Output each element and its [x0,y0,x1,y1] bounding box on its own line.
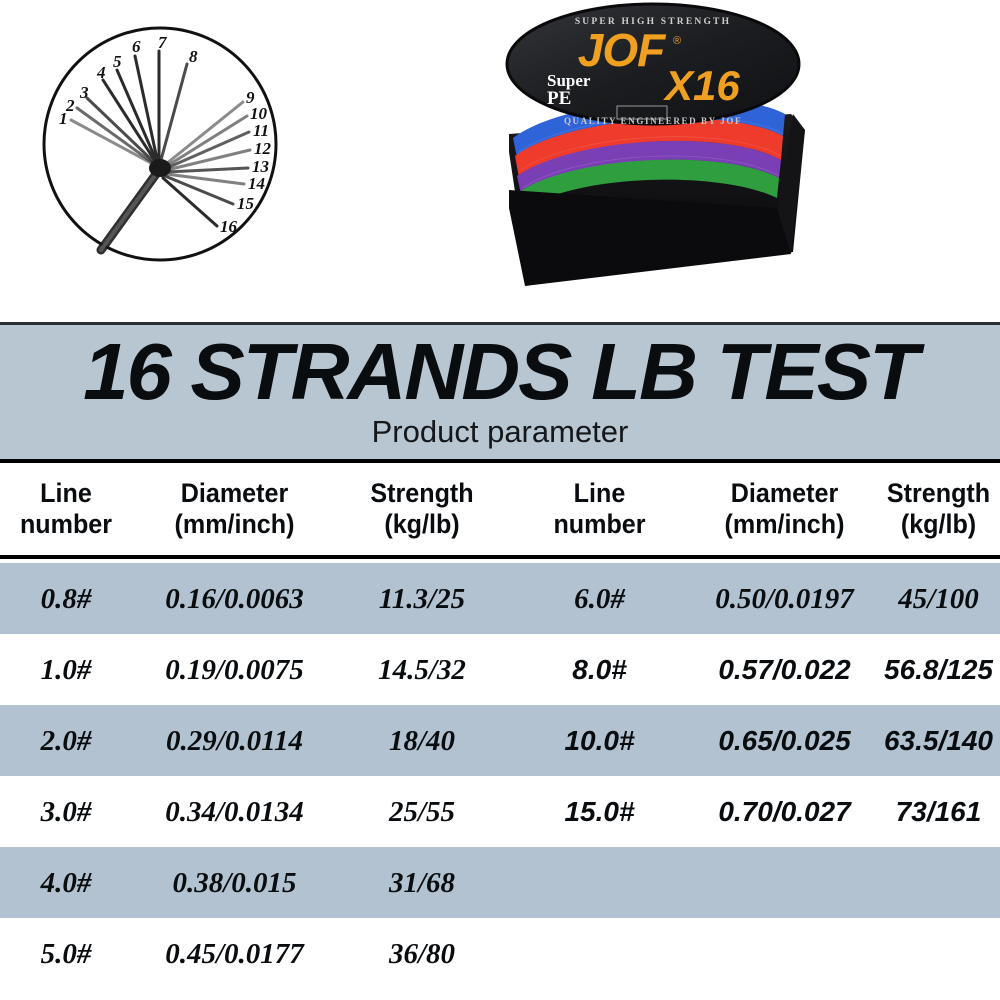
column-header-diameter-left: Diameter (mm/inch) [139,478,330,540]
column-header-line: Line [5,478,128,509]
cell-strength-2: 56.8/125 [877,654,1000,686]
cell-strength: 31/68 [337,867,507,899]
cell-strength-2: 45/100 [877,583,1000,615]
table-row: 1.0#0.19/0.007514.5/328.0#0.57/0.02256.8… [0,634,1000,705]
column-header-strength-left: Strength (kg/lb) [343,478,501,540]
strand-label-2: 2 [65,96,75,115]
cell-line-number: 3.0# [0,796,132,828]
strand-label-11: 11 [253,121,269,140]
table-row: 2.0#0.29/0.011418/4010.0#0.65/0.02563.5/… [0,705,1000,776]
cell-strength: 14.5/32 [337,654,507,686]
column-header-strength-2: Strength [881,478,995,509]
cell-diameter: 0.16/0.0063 [132,583,337,615]
strand-label-4: 4 [96,63,106,82]
spool-pe-text: PE [547,88,571,109]
cell-diameter-2: 0.50/0.0197 [692,583,877,615]
cell-line-number: 4.0# [0,867,132,899]
product-photo-area: 1 2 3 4 5 6 7 8 9 10 11 12 13 14 15 16 [0,0,1000,324]
column-header-diameter-right: Diameter (mm/inch) [698,478,870,540]
cell-strength-2: 73/161 [877,796,1000,828]
cell-line-number: 2.0# [0,725,132,757]
spec-table-header: Line number Diameter (mm/inch) Strength … [0,459,1000,559]
column-header-number-2: number [513,509,685,540]
cell-strength: 18/40 [337,725,507,757]
strand-label-15: 15 [237,194,255,213]
column-header-strength-units-2: (kg/lb) [881,509,995,540]
table-row: 0.8#0.16/0.006311.3/256.0#0.50/0.019745/… [0,563,1000,634]
cell-line-number-2: 8.0# [507,654,692,686]
table-row: 3.0#0.34/0.013425/5515.0#0.70/0.02773/16… [0,776,1000,847]
column-header-strength: Strength [343,478,501,509]
spool-bottom-arc-text: QUALITY ENGINEERED BY JOF [564,116,742,126]
spec-table-body: 0.8#0.16/0.006311.3/256.0#0.50/0.019745/… [0,563,1000,1000]
page-title: 16 STRANDS LB TEST [0,329,1000,415]
cell-line-number: 5.0# [0,938,132,970]
strand-label-16: 16 [220,217,238,236]
column-header-line-number-left: Line number [5,478,128,540]
svg-text:®: ® [673,35,681,47]
page-subtitle: Product parameter [0,415,1000,449]
column-header-diameter: Diameter [139,478,330,509]
cell-line-number-2: 10.0# [507,725,692,757]
strand-label-8: 8 [189,47,198,66]
cell-strength-2: 63.5/140 [877,725,1000,757]
column-header-diameter-units-2: (mm/inch) [698,509,870,540]
cell-diameter-2: 0.70/0.027 [692,796,877,828]
cell-diameter: 0.29/0.0114 [132,725,337,757]
title-banner: 16 STRANDS LB TEST Product parameter [0,325,1000,459]
strand-label-5: 5 [113,52,122,71]
cell-diameter-2: 0.65/0.025 [692,725,877,757]
cell-line-number-2: 6.0# [507,583,692,615]
cell-strength: 11.3/25 [337,583,507,615]
cell-diameter: 0.38/0.015 [132,867,337,899]
spool-product-photo: SUPER HIGH STRENGTH JOF ® Super PE X16 Q… [495,2,825,314]
column-header-number: number [5,509,128,540]
strand-label-6: 6 [132,37,141,56]
spool-strand-badge: X16 [663,62,740,109]
cell-diameter: 0.45/0.0177 [132,938,337,970]
cell-diameter: 0.19/0.0075 [132,654,337,686]
cell-line-number: 0.8# [0,583,132,615]
column-header-strength-units: (kg/lb) [343,509,501,540]
strand-diagram: 1 2 3 4 5 6 7 8 9 10 11 12 13 14 15 16 [35,18,285,274]
cell-diameter: 0.34/0.0134 [132,796,337,828]
column-header-line-number-right: Line number [513,478,685,540]
cell-line-number: 1.0# [0,654,132,686]
strand-label-3: 3 [79,83,89,102]
strand-label-12: 12 [254,139,272,158]
table-row: 5.0#0.45/0.017736/80 [0,918,1000,989]
table-row: 4.0#0.38/0.01531/68 [0,847,1000,918]
cell-strength: 36/80 [337,938,507,970]
cell-diameter-2: 0.57/0.022 [692,654,877,686]
strand-label-14: 14 [248,174,265,193]
cell-line-number-2: 15.0# [507,796,692,828]
column-header-line-2: Line [513,478,685,509]
column-header-diameter-units: (mm/inch) [139,509,330,540]
column-header-strength-right: Strength (kg/lb) [881,478,995,540]
cell-strength: 25/55 [337,796,507,828]
svg-text:JOF: JOF [578,24,667,76]
column-header-diameter-2: Diameter [698,478,870,509]
